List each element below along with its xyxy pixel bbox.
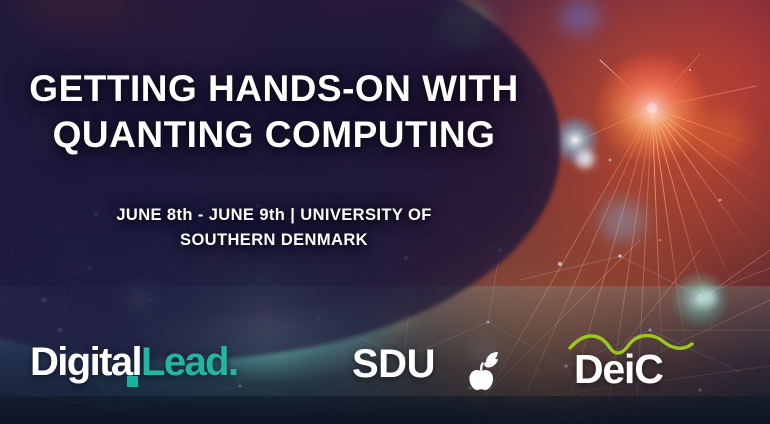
logo-digitallead: DigitalLead.	[30, 340, 238, 385]
headline-scrim	[0, 0, 560, 360]
apple-leaf-icon	[460, 346, 512, 392]
logo-sdu: SDU	[352, 342, 435, 387]
page-title: GETTING HANDS-ON WITH QUANTING COMPUTING	[0, 66, 548, 158]
event-details: JUNE 8th - JUNE 9th | UNIVERSITY OF SOUT…	[0, 203, 548, 253]
digitallead-word-lead: Lead.	[141, 340, 237, 384]
subtitle-line-2: SOUTHERN DENMARK	[180, 231, 368, 249]
digitallead-word-digital: Digital	[30, 340, 141, 384]
sponsor-logo-bar: DigitalLead. SDU DeiC	[0, 340, 770, 402]
headline-line-1: GETTING HANDS-ON WITH	[0, 66, 548, 112]
event-banner: GETTING HANDS-ON WITH QUANTING COMPUTING…	[0, 0, 770, 424]
digitallead-square-dot-icon	[127, 376, 138, 387]
sdu-wordmark: SDU	[352, 342, 435, 386]
headline-line-2: QUANTING COMPUTING	[0, 112, 548, 158]
subtitle-line-1: JUNE 8th - JUNE 9th | UNIVERSITY OF	[116, 206, 431, 224]
deic-green-wave-icon	[566, 328, 696, 358]
